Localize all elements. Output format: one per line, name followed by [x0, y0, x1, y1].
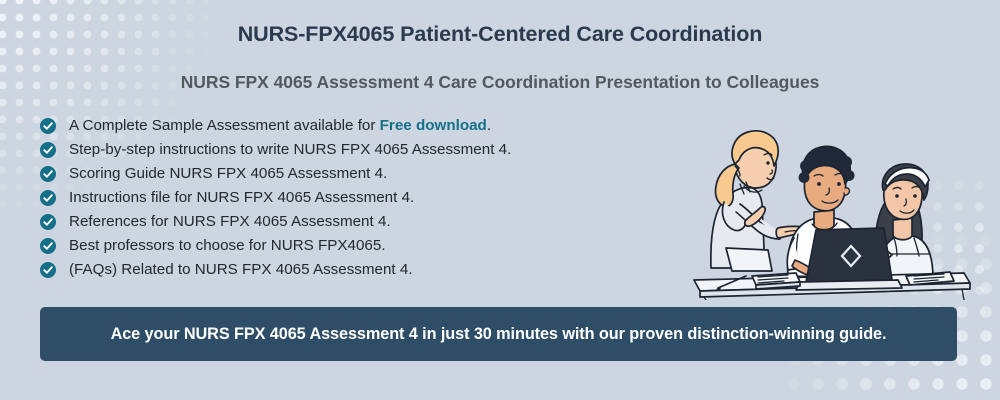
feature-list-item: Instructions file for NURS FPX 4065 Asse…	[40, 186, 660, 210]
feature-list-item: Step-by-step instructions to write NURS …	[40, 138, 660, 162]
cta-banner[interactable]: Ace your NURS FPX 4065 Assessment 4 in j…	[40, 307, 957, 361]
check-circle-icon	[40, 238, 56, 254]
check-circle-icon	[40, 166, 56, 182]
page-subtitle: NURS FPX 4065 Assessment 4 Care Coordina…	[0, 70, 1000, 94]
feature-list: A Complete Sample Assessment available f…	[40, 114, 660, 282]
check-circle-icon	[40, 262, 56, 278]
feature-list-item: A Complete Sample Assessment available f…	[40, 114, 660, 138]
feature-list-item: Scoring Guide NURS FPX 4065 Assessment 4…	[40, 162, 660, 186]
promo-banner-root: NURS-FPX4065 Patient-Centered Care Coord…	[0, 0, 1000, 400]
feature-list-item-label: References for NURS FPX 4065 Assessment …	[69, 210, 391, 234]
check-circle-icon	[40, 190, 56, 206]
feature-list-item-label: Best professors to choose for NURS FPX40…	[69, 234, 386, 258]
feature-list-item-label: Instructions file for NURS FPX 4065 Asse…	[69, 186, 414, 210]
feature-list-item: Best professors to choose for NURS FPX40…	[40, 234, 660, 258]
heading-block: NURS-FPX4065 Patient-Centered Care Coord…	[0, 20, 1000, 94]
check-circle-icon	[40, 118, 56, 134]
free-download-link[interactable]: Free download	[380, 117, 487, 134]
feature-list-item-label: A Complete Sample Assessment available f…	[69, 114, 491, 138]
feature-list-item-label: (FAQs) Related to NURS FPX 4065 Assessme…	[69, 258, 413, 282]
check-circle-icon	[40, 142, 56, 158]
feature-list-item-label: Scoring Guide NURS FPX 4065 Assessment 4…	[69, 162, 387, 186]
feature-list-item: References for NURS FPX 4065 Assessment …	[40, 210, 660, 234]
check-circle-icon	[40, 214, 56, 230]
three-students-at-laptop-illustration: .ln { fill:none; stroke:#1b2430; stroke-…	[688, 108, 976, 300]
page-title: NURS-FPX4065 Patient-Centered Care Coord…	[0, 20, 1000, 48]
feature-list-item: (FAQs) Related to NURS FPX 4065 Assessme…	[40, 258, 660, 282]
cta-banner-text: Ace your NURS FPX 4065 Assessment 4 in j…	[111, 323, 887, 346]
feature-list-item-label: Step-by-step instructions to write NURS …	[69, 138, 511, 162]
